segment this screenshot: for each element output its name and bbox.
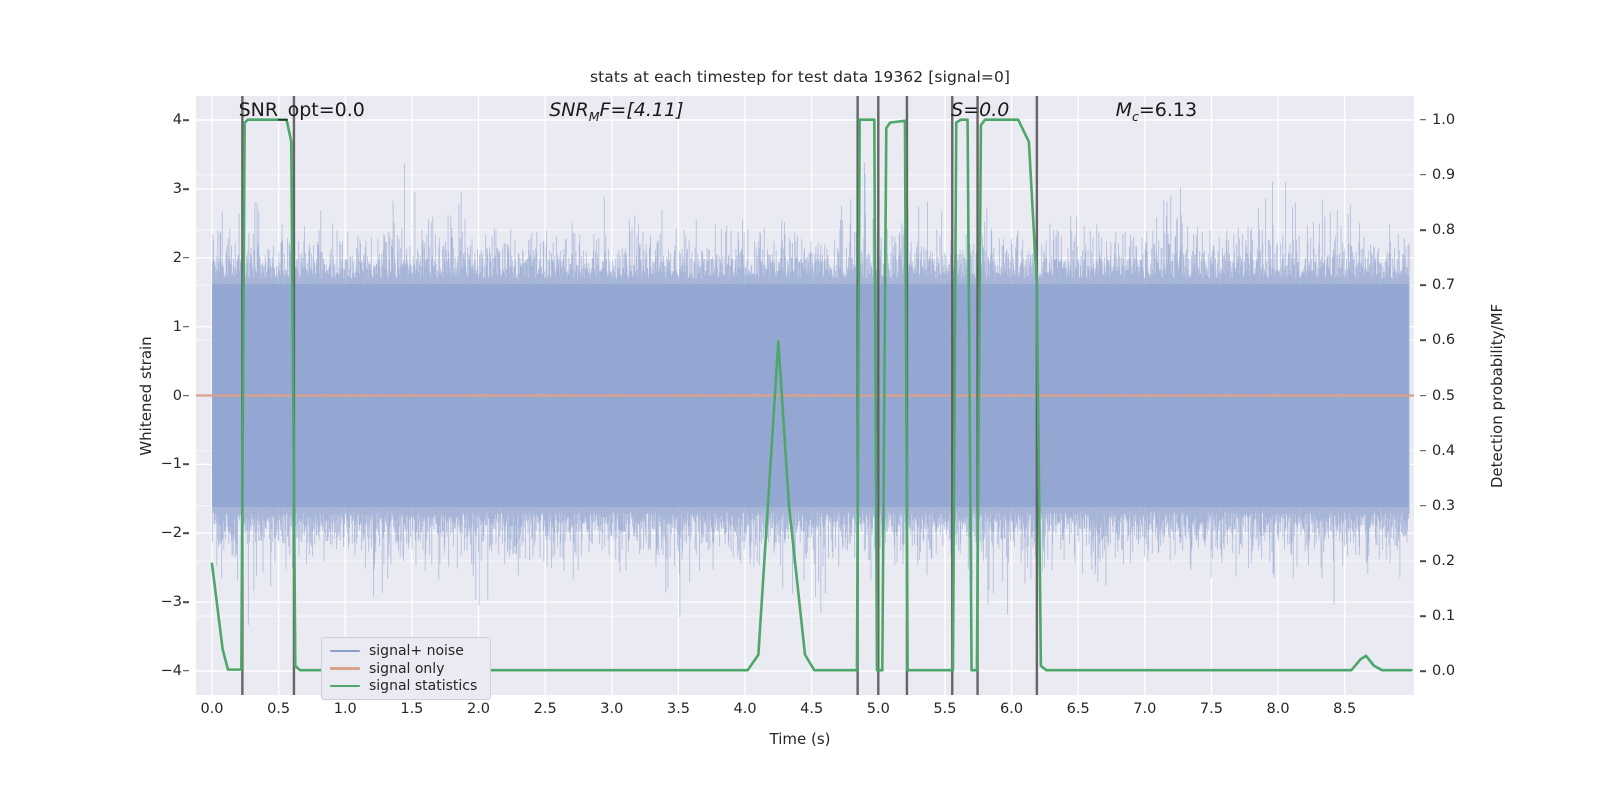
y-tick-right-label: 0.9 [1432,167,1455,183]
y-tick-left-label: 2 [173,250,182,266]
y-tick-right-label: 0.7 [1432,277,1455,293]
annotation-snr-mf-text: SNR [549,99,588,121]
y-tick-left-mark [183,532,189,534]
annotation-detection-stat: S=0.0 [951,99,1009,121]
y-tick-right-label: 0.4 [1432,443,1455,459]
x-tick-label: 3.0 [600,701,623,717]
x-tick-label: 1.5 [400,701,423,717]
legend-swatch-signal-only [330,667,360,669]
y-tick-right-label: 0.5 [1432,388,1455,404]
y-tick-right-mark [1420,119,1426,121]
legend-swatch-signal-statistics [330,685,360,687]
y-tick-right-mark [1420,395,1426,397]
y-tick-right-label: 0.2 [1432,553,1455,569]
plot-area [196,96,1414,695]
gridline-horizontal-secondary [196,174,1414,175]
y-tick-right-mark [1420,284,1426,286]
legend: signal+ noise signal only signal statist… [321,637,491,700]
x-tick-label: 6.0 [1000,701,1023,717]
x-tick-label: 2.5 [534,701,557,717]
y-tick-left-mark [183,119,189,121]
y-tick-left-label: 3 [173,181,182,197]
y-tick-left-label: −4 [161,663,182,679]
plot-canvas [196,96,1414,695]
x-tick-label: 5.0 [867,701,890,717]
y-tick-right-label: 1.0 [1432,112,1455,128]
annotation-snr-opt-text: SNR_opt=0.0 [239,99,365,121]
legend-swatch-signal-noise [330,650,360,652]
legend-label-signal-noise: signal+ noise [369,643,464,659]
x-tick-label: 0.0 [200,701,223,717]
annotation-chirp-mass-text: M [1116,99,1132,121]
y-tick-left-label: −3 [161,594,182,610]
gridline-horizontal-secondary [196,616,1414,617]
annotation-chirp-mass-text2: =6.13 [1139,99,1197,121]
x-axis-label: Time (s) [0,730,1600,748]
annotation-detection-stat-text: S=0.0 [951,99,1009,121]
annotation-snr-mf: SNRMF=[4.11] [549,99,683,124]
y-tick-right-mark [1420,670,1426,672]
x-tick-label: 5.5 [933,701,956,717]
gridline-horizontal [196,257,1414,258]
y-tick-left-mark [183,670,189,672]
y-tick-right-mark [1420,229,1426,231]
gridline-horizontal-secondary [196,119,1414,120]
x-tick-label: 8.5 [1333,701,1356,717]
chart-title: stats at each timestep for test data 193… [0,68,1600,86]
y-tick-right-mark [1420,450,1426,452]
y-tick-right-label: 0.8 [1432,222,1455,238]
y-tick-left-mark [183,464,189,466]
x-tick-label: 6.5 [1067,701,1090,717]
y-tick-right-mark [1420,340,1426,342]
y-tick-left-label: −2 [161,525,182,541]
y-tick-left-label: 4 [173,112,182,128]
legend-item-signal-only: signal only [330,660,482,678]
y-tick-left-mark [183,601,189,603]
x-tick-label: 0.5 [267,701,290,717]
annotation-snr-mf-sub: M [589,109,600,124]
y-tick-right-label: 0.0 [1432,663,1455,679]
y-tick-left-label: −1 [161,456,182,472]
y-axis-label-left: Whitened strain [137,246,155,546]
x-tick-label: 7.5 [1200,701,1223,717]
y-tick-left-label: 1 [173,319,182,335]
y-axis-label-right: Detection probability/MF [1488,226,1506,566]
annotation-snr-mf-text2: F=[4.11] [600,99,684,121]
series-signal-noise [212,163,1410,625]
annotation-chirp-mass: Mc=6.13 [1116,99,1198,124]
x-tick-label: 8.0 [1267,701,1290,717]
gridline-horizontal-secondary [196,229,1414,230]
gridline-horizontal-secondary [196,560,1414,561]
y-tick-right-mark [1420,505,1426,507]
x-tick-label: 1.0 [334,701,357,717]
x-tick-label: 4.5 [800,701,823,717]
y-tick-right-label: 0.1 [1432,608,1455,624]
x-tick-label: 2.0 [467,701,490,717]
y-tick-left-mark [183,188,189,190]
y-tick-left-label: 0 [173,388,182,404]
y-tick-left-mark [183,395,189,397]
x-tick-label: 3.5 [667,701,690,717]
legend-item-signal-noise: signal+ noise [330,642,482,660]
annotation-snr-opt: SNR_opt=0.0 [239,99,365,121]
gridline-horizontal [196,601,1414,602]
y-tick-right-mark [1420,615,1426,617]
y-tick-right-label: 0.3 [1432,498,1455,514]
y-tick-right-mark [1420,174,1426,176]
legend-label-signal-only: signal only [369,661,444,677]
y-tick-left-mark [183,326,189,328]
legend-item-signal-statistics: signal statistics [330,677,482,695]
annotation-chirp-mass-sub: c [1132,109,1139,124]
y-tick-right-label: 0.6 [1432,332,1455,348]
y-tick-left-mark [183,257,189,259]
gridline-horizontal [196,188,1414,189]
x-tick-label: 7.0 [1133,701,1156,717]
x-tick-label: 4.0 [734,701,757,717]
y-tick-right-mark [1420,560,1426,562]
legend-label-signal-statistics: signal statistics [369,678,477,694]
